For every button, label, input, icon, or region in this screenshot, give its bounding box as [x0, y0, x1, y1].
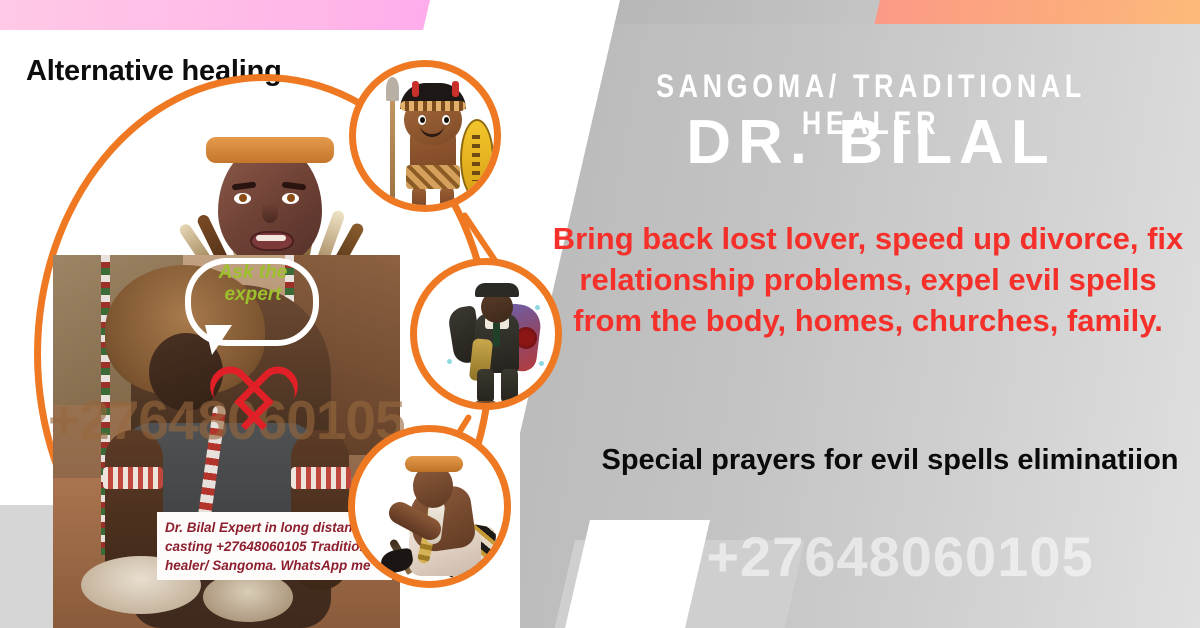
circle-diviner-illustration [410, 258, 562, 410]
speech-bubble-tail-inner-icon [207, 322, 225, 342]
phone-watermark: +27648060105 [600, 524, 1200, 589]
services-text: Bring back lost lover, speed up divorce,… [548, 218, 1188, 342]
speech-bubble-text: Ask the expert [200, 262, 306, 307]
red-heart-icon [196, 340, 276, 412]
caption-line-3: healer/ Sangoma. WhatsApp me [165, 556, 384, 575]
circle-crouching-healer-illustration [348, 425, 511, 588]
poster-canvas: Alternative healing [0, 0, 1200, 628]
caption-line-2: casting +27648060105 Traditional [165, 537, 384, 556]
offer-text: Special prayers for evil spells eliminat… [600, 442, 1180, 480]
brand-name: DR. BILAL [566, 110, 1176, 175]
bottom-left-grey-block [0, 505, 56, 628]
circle-zulu-warrior-illustration [349, 60, 501, 212]
